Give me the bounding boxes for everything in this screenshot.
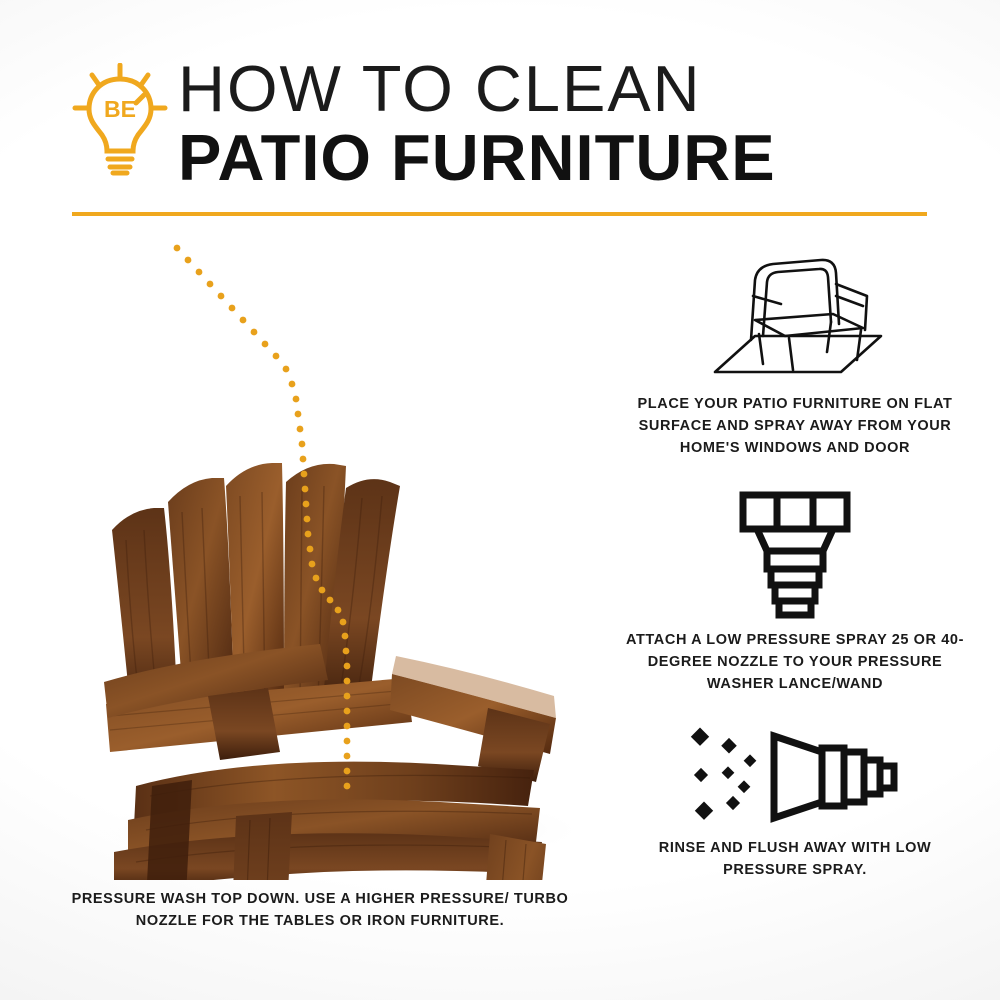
chair-photo-container xyxy=(40,230,640,880)
logo-text: BE xyxy=(104,96,136,122)
left-caption: PRESSURE WASH TOP DOWN. USE A HIGHER PRE… xyxy=(60,888,580,932)
spray-nozzle-icon xyxy=(600,481,990,629)
title-line-1: HOW TO CLEAN xyxy=(178,55,776,123)
step-text: RINSE AND FLUSH AWAY WITH LOW PRESSURE S… xyxy=(600,837,990,881)
lightbulb-icon: BE xyxy=(72,63,168,183)
title-line-2: PATIO FURNITURE xyxy=(178,123,776,193)
steps-column: PLACE YOUR PATIO FURNITURE ON FLAT SURFA… xyxy=(600,245,990,903)
wooden-chair-photo xyxy=(40,230,640,880)
patio-chair-on-mat-icon xyxy=(600,245,990,393)
header-divider xyxy=(72,212,927,216)
step-item: ATTACH A LOW PRESSURE SPRAY 25 OR 40-DEG… xyxy=(600,481,990,695)
step-text: ATTACH A LOW PRESSURE SPRAY 25 OR 40-DEG… xyxy=(600,629,990,695)
spray-gun-rinse-icon xyxy=(600,717,990,837)
step-item: RINSE AND FLUSH AWAY WITH LOW PRESSURE S… xyxy=(600,717,990,881)
page-title: HOW TO CLEAN PATIO FURNITURE xyxy=(178,55,776,193)
step-item: PLACE YOUR PATIO FURNITURE ON FLAT SURFA… xyxy=(600,245,990,459)
step-text: PLACE YOUR PATIO FURNITURE ON FLAT SURFA… xyxy=(600,393,990,459)
header: BE HOW TO CLEAN PATIO FURNITURE xyxy=(0,55,1000,230)
